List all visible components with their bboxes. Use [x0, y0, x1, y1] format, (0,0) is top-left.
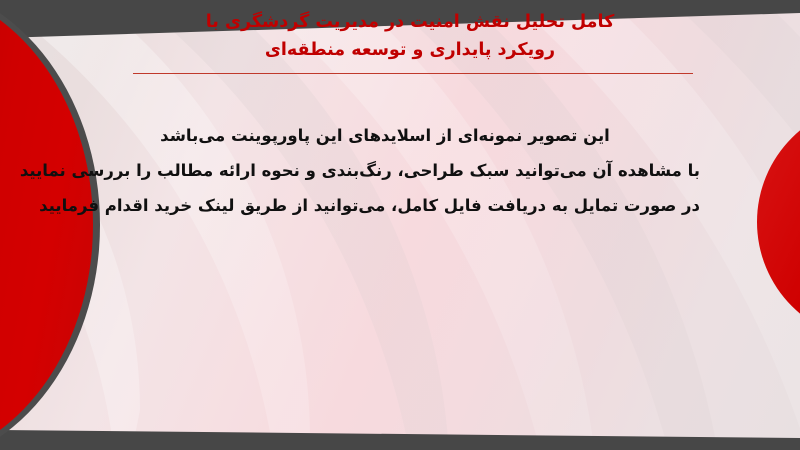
title-underline-rule	[133, 73, 693, 74]
slide-body-text: این تصویر نمونه‌ای از اسلایدهای این پاور…	[70, 118, 700, 223]
slide-content: کامل تحلیل نقش امنیت در مدیریت گردشگری ب…	[0, 0, 800, 450]
title-line-1: کامل تحلیل نقش امنیت در مدیریت گردشگری ب…	[120, 8, 700, 36]
title-line-2: رویکرد پایداری و توسعه منطقه‌ای	[120, 36, 700, 64]
body-line-1: این تصویر نمونه‌ای از اسلایدهای این پاور…	[70, 118, 700, 153]
body-line-2: با مشاهده آن می‌توانید سبک طراحی، رنگ‌بن…	[70, 153, 700, 188]
presentation-slide: کامل تحلیل نقش امنیت در مدیریت گردشگری ب…	[0, 0, 800, 450]
body-line-3: در صورت تمایل به دریافت فایل کامل، می‌تو…	[70, 188, 700, 223]
slide-title: کامل تحلیل نقش امنیت در مدیریت گردشگری ب…	[120, 8, 700, 64]
